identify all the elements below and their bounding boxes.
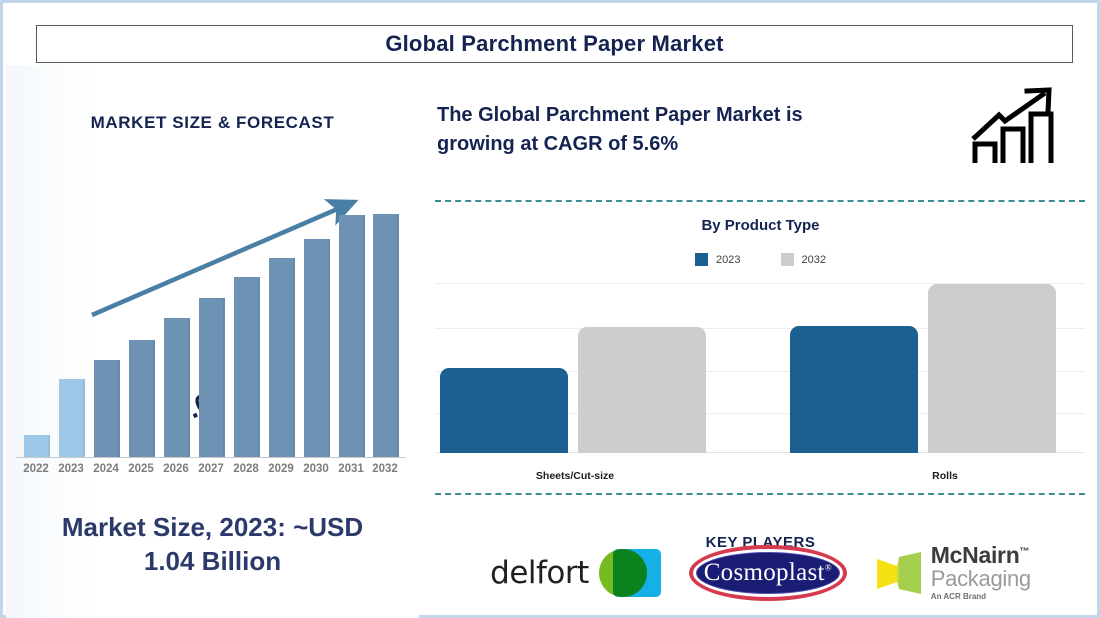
year-label-2022: 2022 — [19, 463, 53, 475]
legend-item-2023: 2023 — [695, 253, 740, 266]
year-label-2024: 2024 — [89, 463, 123, 475]
mcnairn-name: McNairn™ — [931, 544, 1031, 567]
year-axis-labels: 2022 2023 2024 2025 2026 2027 2028 2029 … — [16, 463, 406, 485]
year-label-2031: 2031 — [334, 463, 368, 475]
cagr-headline-line-2: growing at CAGR of 5.6% — [437, 130, 937, 159]
market-size-panel: MARKET SIZE & FORECAST 5.6% — [6, 65, 419, 618]
mcnairn-tagline: An ACR Brand — [931, 593, 1031, 601]
infographic-page: Global Parchment Paper Market MARKET SIZ… — [0, 0, 1100, 618]
market-size-value: Market Size, 2023: ~USD 1.04 Billion — [6, 510, 419, 579]
legend-label-2032: 2032 — [802, 254, 826, 266]
category-label-sheets: Sheets/Cut-size — [465, 470, 685, 482]
details-panel: The Global Parchment Paper Market is gro… — [421, 65, 1100, 618]
mcnairn-wordmark: McNairn™ Packaging An ACR Brand — [931, 544, 1031, 601]
logo-cosmoplast: Cosmoplast® — [689, 545, 847, 601]
logo-mcnairn: McNairn™ Packaging An ACR Brand — [875, 544, 1031, 601]
divider-bottom — [435, 493, 1085, 495]
cagr-headline: The Global Parchment Paper Market is gro… — [437, 101, 937, 159]
delfort-mark-icon — [599, 549, 661, 597]
market-size-line-1: Market Size, 2023: ~USD — [6, 510, 419, 544]
cagr-headline-line-1: The Global Parchment Paper Market is — [437, 101, 937, 130]
cosmoplast-badge: Cosmoplast® — [689, 545, 847, 601]
forecast-bars — [16, 207, 406, 457]
mcnairn-packaging: Packaging — [931, 568, 1031, 590]
year-label-2028: 2028 — [229, 463, 263, 475]
year-label-2025: 2025 — [124, 463, 158, 475]
key-players-logos: delfort Cosmoplast® — [421, 535, 1100, 610]
year-label-2032: 2032 — [368, 463, 402, 475]
market-size-heading: MARKET SIZE & FORECAST — [6, 113, 419, 133]
bar-rolls-2023 — [790, 326, 918, 453]
mcnairn-tm-icon: ™ — [1019, 546, 1029, 557]
legend-swatch-2023 — [695, 253, 708, 266]
legend-item-2032: 2032 — [781, 253, 826, 266]
cosmoplast-wordmark: Cosmoplast® — [704, 559, 832, 587]
legend-swatch-2032 — [781, 253, 794, 266]
legend-label-2023: 2023 — [716, 254, 740, 266]
product-type-chart: Sheets/Cut-size Rolls — [435, 273, 1085, 488]
year-label-2023: 2023 — [54, 463, 88, 475]
x-axis-line — [16, 457, 406, 458]
divider-top — [435, 200, 1085, 202]
logo-delfort: delfort — [490, 549, 661, 597]
product-type-legend: 2023 2032 — [421, 253, 1100, 266]
page-title-box: Global Parchment Paper Market — [36, 25, 1073, 63]
market-size-line-2: 1.04 Billion — [6, 544, 419, 578]
page-title: Global Parchment Paper Market — [385, 31, 723, 57]
bar-sheets-2032 — [578, 327, 706, 453]
year-label-2029: 2029 — [264, 463, 298, 475]
product-type-title: By Product Type — [421, 217, 1100, 234]
mcnairn-mark-icon — [875, 549, 923, 597]
bar-rolls-2032 — [928, 284, 1056, 453]
growth-chart-icon — [969, 87, 1059, 167]
year-label-2027: 2027 — [194, 463, 228, 475]
market-size-forecast-chart: 5.6% 2022 2023 2024 2025 — [6, 190, 419, 505]
delfort-wordmark: delfort — [490, 555, 589, 591]
category-label-rolls: Rolls — [835, 470, 1055, 482]
bar-sheets-2023 — [440, 368, 568, 453]
year-label-2026: 2026 — [159, 463, 193, 475]
cosmoplast-registered-icon: ® — [825, 562, 832, 572]
year-label-2030: 2030 — [299, 463, 333, 475]
